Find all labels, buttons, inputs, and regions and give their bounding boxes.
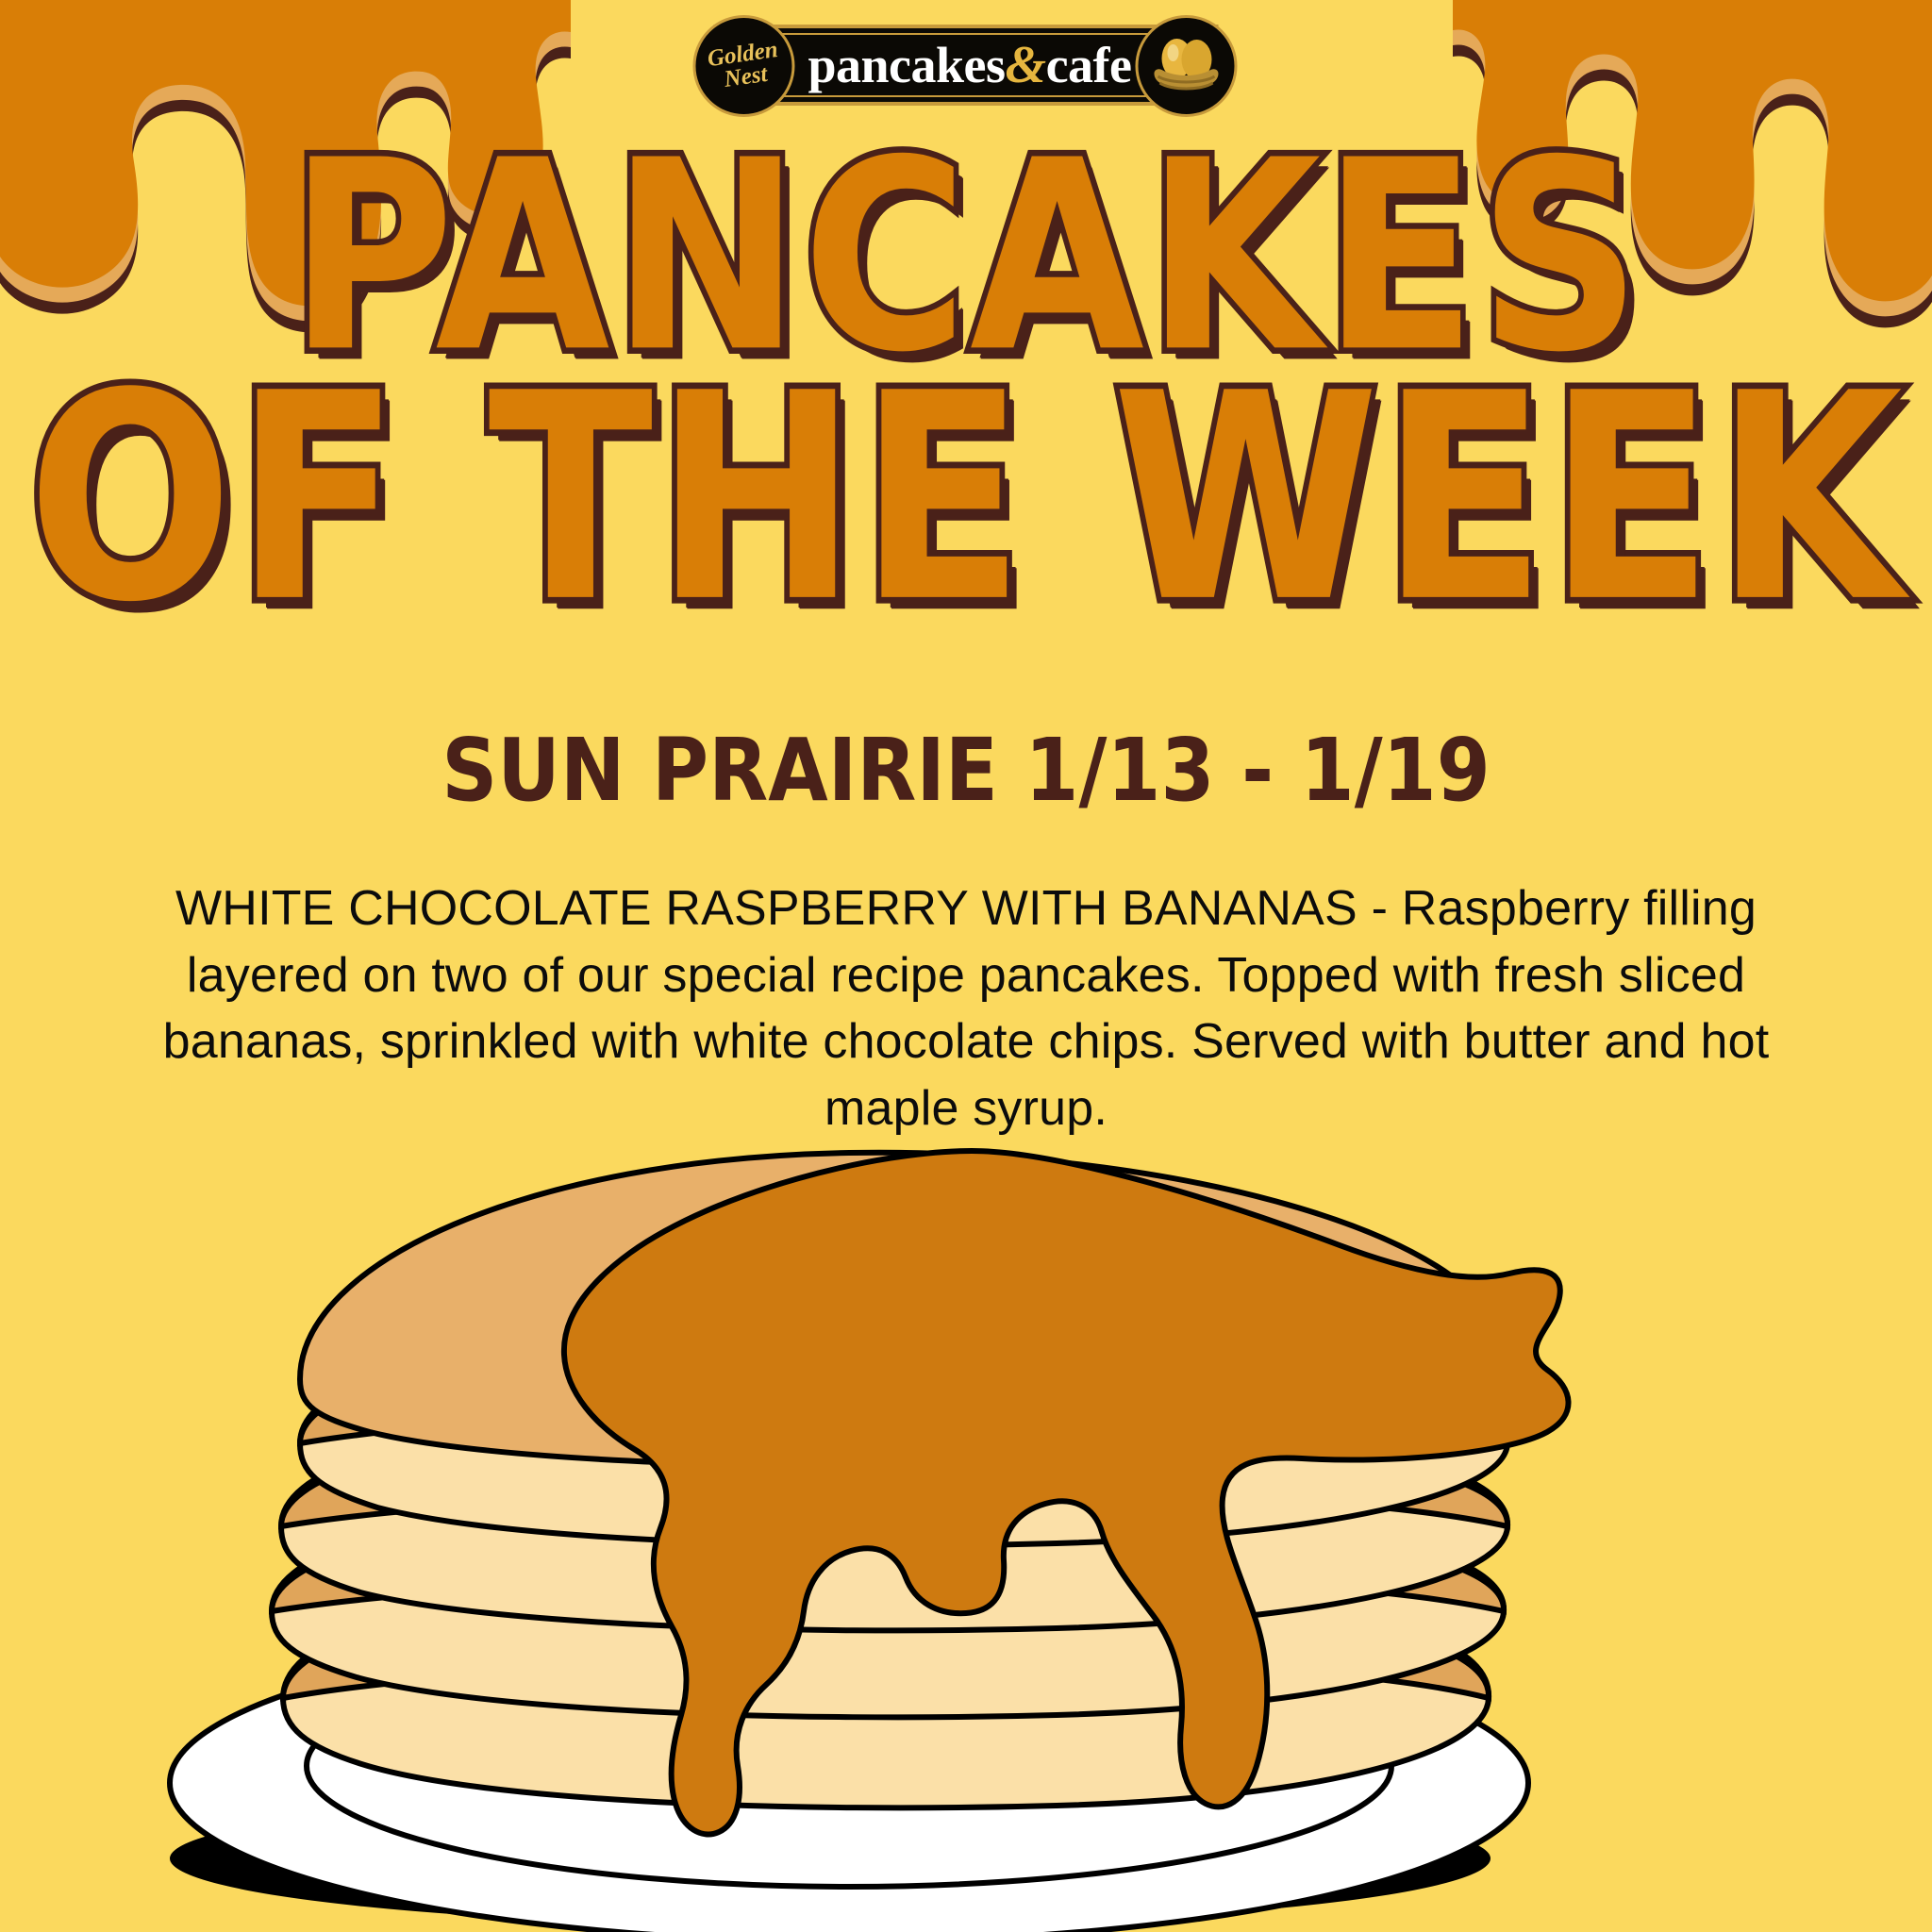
golden-nest-badge-text: Golden Nest — [706, 39, 782, 93]
brand-logo: pancakes&cafe Golden Nest — [713, 25, 1218, 106]
eggs-in-nest-icon — [1136, 15, 1238, 117]
poster-canvas: pancakes&cafe Golden Nest — [0, 0, 1932, 1932]
title-line-of-the-week: OF THE WEEK — [0, 374, 1932, 625]
logo-wordmark-pancakes: pancakes — [808, 37, 1005, 93]
page-title: PANCAKES OF THE WEEK — [0, 142, 1932, 576]
logo-plate: pancakes&cafe Golden Nest — [713, 25, 1218, 106]
golden-nest-badge: Golden Nest — [692, 15, 794, 117]
eggs-in-nest-glyph — [1145, 25, 1228, 108]
logo-ampersand-icon: & — [1006, 36, 1046, 94]
pancake-stack-with-syrup-illustration — [0, 1132, 1932, 1932]
logo-wordmark-cafe: cafe — [1046, 37, 1132, 93]
pancake-description: WHITE CHOCOLATE RASPBERRY WITH BANANAS -… — [122, 875, 1810, 1142]
location-date-subtitle: SUN PRAIRIE 1/13 - 1/19 — [0, 721, 1932, 821]
